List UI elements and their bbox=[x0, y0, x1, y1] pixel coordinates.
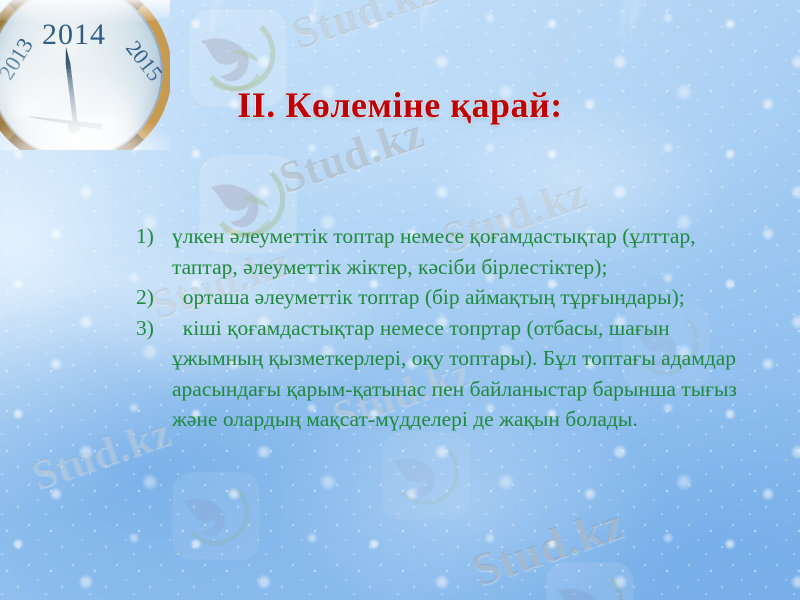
list-item-text: орташа әлеуметтік топтар (бір аймақтың т… bbox=[172, 282, 756, 313]
list-item: 2) орташа әлеуметтік топтар (бір аймақты… bbox=[136, 282, 756, 313]
slide-canvas: Stud.kz Stud.kz Stud.kz Stud.kz Stud.kz … bbox=[0, 0, 800, 600]
list-item-text: кіші қоғамдастықтар немесе топртар (отба… bbox=[172, 313, 756, 435]
list-item-text: үлкен әлеуметтік топтар немесе қоғамдаст… bbox=[172, 221, 756, 282]
list-item-marker: 3) bbox=[136, 313, 172, 344]
list-item: 1) үлкен әлеуметтік топтар немесе қоғамд… bbox=[136, 221, 756, 282]
list-item: 3) кіші қоғамдастықтар немесе топртар (о… bbox=[136, 313, 756, 435]
hummingbird-logo-icon bbox=[380, 430, 472, 522]
hummingbird-logo-icon bbox=[170, 470, 262, 562]
content-list: 1) үлкен әлеуметтік топтар немесе қоғамд… bbox=[136, 221, 756, 435]
page-title: II. Көлеміне қарай: bbox=[0, 84, 800, 126]
list-item-marker: 2) bbox=[136, 282, 172, 313]
list-item-marker: 1) bbox=[136, 221, 172, 252]
clock-snow-cap bbox=[0, 0, 170, 24]
snow-clock-image: 2013 2014 2015 bbox=[0, 0, 170, 150]
